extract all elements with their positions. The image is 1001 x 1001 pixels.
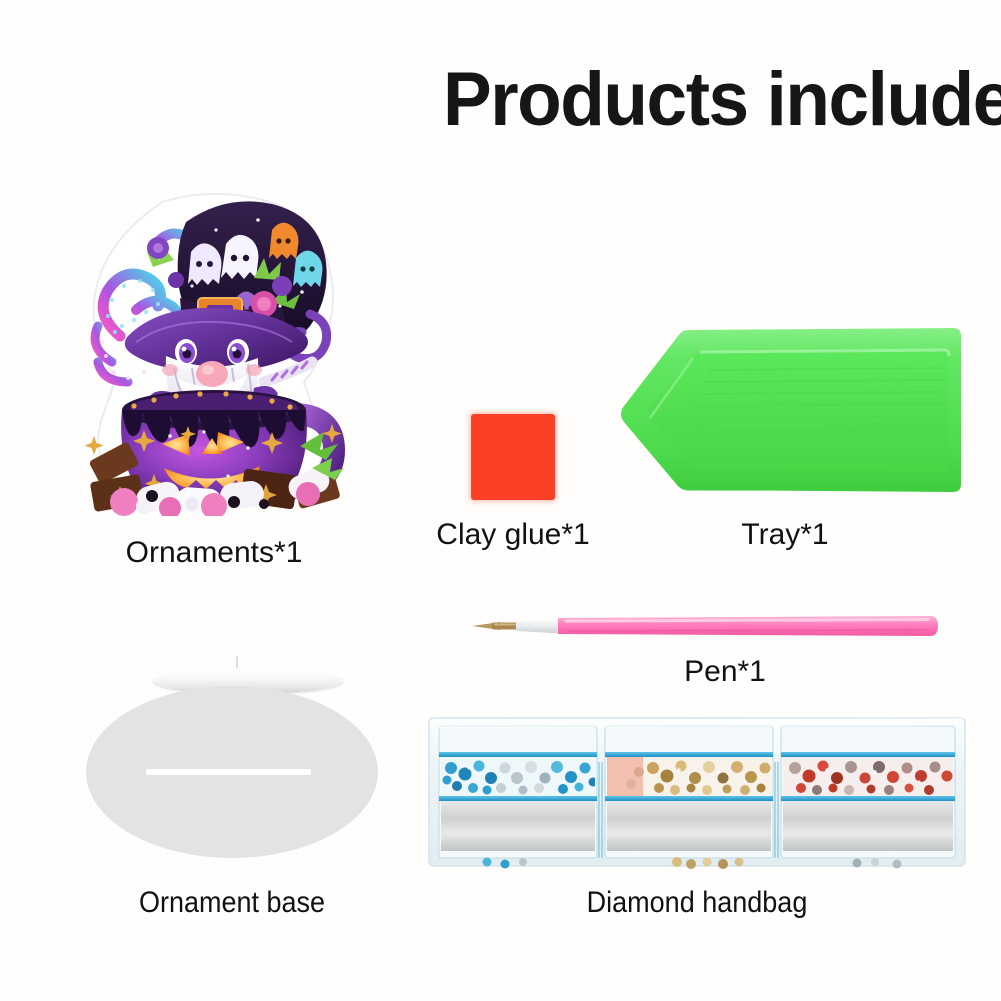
ornament-base-slot	[146, 769, 311, 775]
ornament-base-label: Ornament base	[101, 886, 364, 920]
ornaments-label: Ornaments*1	[58, 536, 370, 570]
page-title: Products include	[443, 60, 966, 140]
product-contents-page: Products include	[0, 0, 1001, 1001]
clay-glue-label: Clay glue*1	[393, 518, 633, 552]
tray-label: Tray*1	[655, 518, 915, 552]
zip-bag-rhinestones-icon	[427, 712, 967, 870]
pen-label: Pen*1	[615, 655, 835, 689]
green-pentagon-tray-icon	[608, 318, 963, 504]
clay-glue-image	[471, 414, 555, 500]
tray-image	[608, 318, 963, 504]
diamond-handbag-label: Diamond handbag	[454, 886, 940, 920]
pink-drill-pen-icon	[470, 612, 940, 640]
halloween-gnome-ornament-icon	[58, 186, 370, 516]
ornaments-image	[58, 186, 370, 516]
pen-image	[470, 612, 940, 640]
diamond-handbag-image	[427, 712, 967, 870]
